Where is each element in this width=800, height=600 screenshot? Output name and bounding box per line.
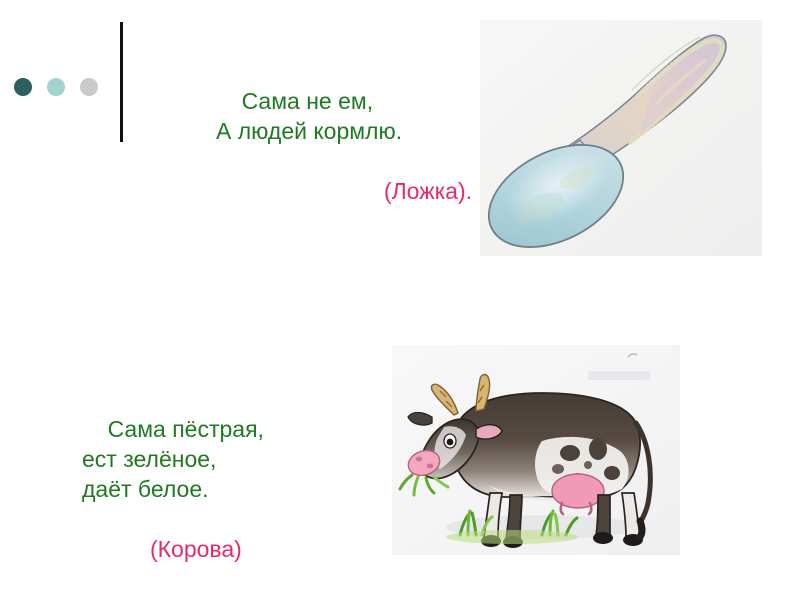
cow-image	[392, 345, 680, 555]
cow-udder	[552, 474, 604, 508]
riddle-spoon-text: Сама не ем, А людей кормлю. (Ложка).	[216, 56, 472, 266]
riddle-cow-answer: (Корова)	[82, 534, 352, 564]
riddle-cow-text: Сама пёстрая, ест зелёное, даёт белое. (…	[82, 384, 352, 600]
riddle-spoon-lines: Сама не ем, А людей кормлю.	[216, 88, 402, 144]
riddle-spoon-answer: (Ложка).	[216, 176, 472, 206]
decorative-dots	[14, 78, 98, 96]
dot-dark-teal-icon	[14, 78, 32, 96]
riddle-cow-lines: Сама пёстрая, ест зелёное, даёт белое.	[82, 416, 264, 502]
dot-light-teal-icon	[47, 78, 65, 96]
spoon-image	[480, 20, 762, 256]
slide-canvas: Сама не ем, А людей кормлю. (Ложка).	[0, 0, 800, 600]
vertical-divider	[120, 22, 123, 142]
dot-gray-icon	[80, 78, 98, 96]
